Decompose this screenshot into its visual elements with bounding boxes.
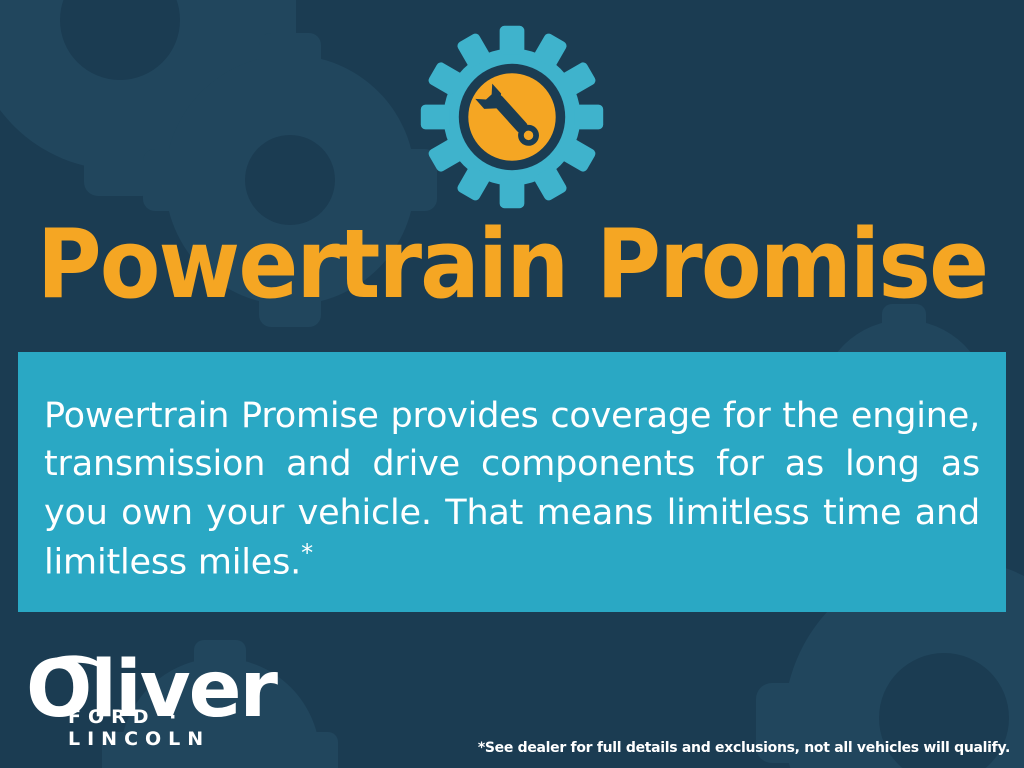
promotional-poster: Powertrain Promise Powertrain Promise pr… — [0, 0, 1024, 768]
logo-subtitle: FORD · LINCOLN — [68, 706, 326, 750]
gear-wrench-icon — [417, 22, 607, 212]
body-text: Powertrain Promise provides coverage for… — [44, 396, 980, 583]
body-panel: Powertrain Promise provides coverage for… — [18, 352, 1006, 612]
dealer-logo: Oliver FORD · LINCOLN — [26, 633, 326, 758]
body-text-block: Powertrain Promise provides coverage for… — [44, 392, 980, 587]
footnote-asterisk: * — [301, 539, 313, 567]
page-title: Powertrain Promise — [36, 218, 988, 313]
disclaimer-text: *See dealer for full details and exclusi… — [478, 740, 1010, 756]
